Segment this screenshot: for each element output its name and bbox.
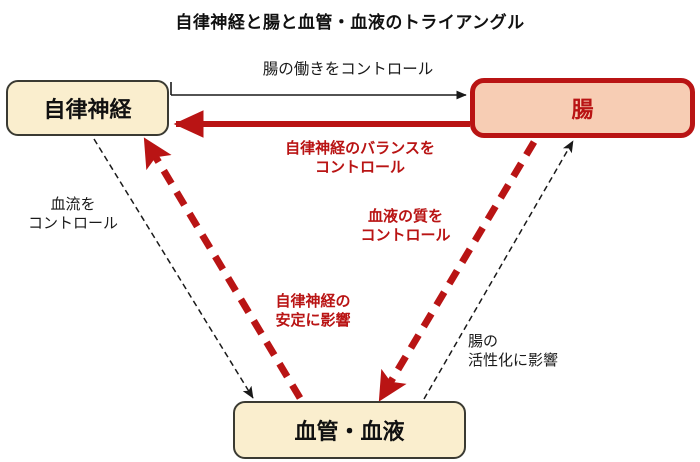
edge-autonomic-to-intestine [171,82,466,95]
edge-blood-to-autonomic [146,141,300,398]
node-blood[interactable]: 血管・血液 [233,401,466,459]
node-intestine[interactable]: 腸 [470,78,695,138]
node-blood-label: 血管・血液 [294,414,404,446]
node-autonomic-label: 自律神経 [43,92,131,124]
edge-label-intestine-to-blood: 血液の質を コントロール [338,208,473,246]
node-autonomic[interactable]: 自律神経 [6,80,169,136]
edge-label-autonomic-to-intestine: 腸の働きをコントロール [228,60,468,79]
edge-label-blood-to-intestine: 腸の 活性化に影響 [468,333,608,371]
diagram-canvas: 自律神経と腸と血管・血液のトライアングル [0,0,700,462]
edge-autonomic-to-blood [94,139,253,398]
edge-label-blood-to-autonomic: 自律神経の 安定に影響 [248,293,378,331]
node-intestine-label: 腸 [571,92,593,124]
edge-label-intestine-to-autonomic: 自律神経のバランスを コントロール [250,140,470,178]
edge-label-autonomic-to-blood: 血流を コントロール [8,196,138,234]
